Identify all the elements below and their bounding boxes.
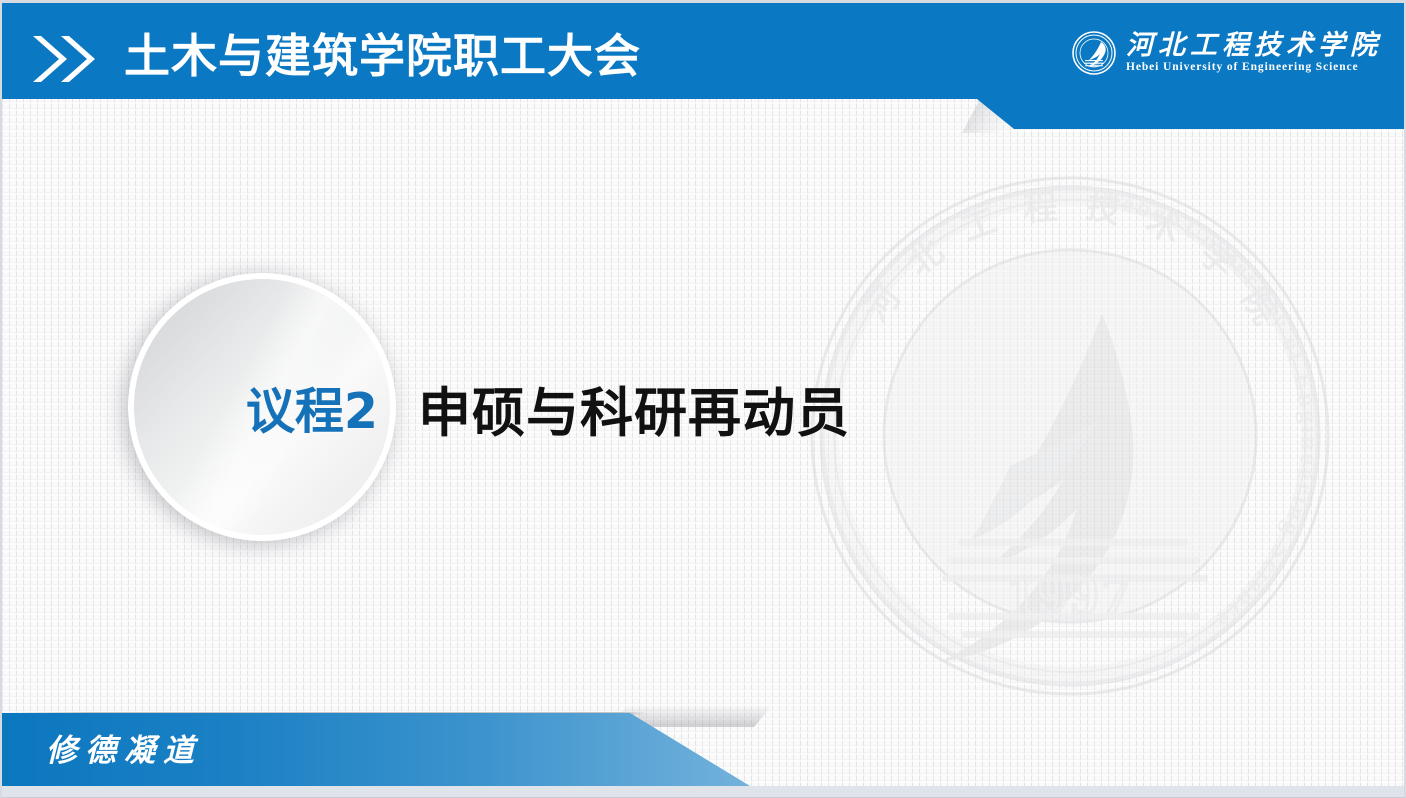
agenda-badge: 议程2 <box>122 268 404 550</box>
school-logo: 1997 河北工程技术学院 Hebei University of Engine… <box>1072 29 1382 77</box>
svg-text:1997: 1997 <box>1089 64 1100 69</box>
school-name-en: Hebei University of Engineering Science <box>1126 62 1382 74</box>
school-name-cn: 河北工程技术学院 <box>1126 32 1382 59</box>
university-seal-icon: 1997 <box>1072 31 1116 75</box>
slide-main-title: 申硕与科研再动员 <box>418 371 850 447</box>
agenda-badge-circle: 议程2 <box>128 273 396 541</box>
footer-motto: 修德凝道 <box>46 725 202 770</box>
slide-canvas: Hebei University of Engineering Science … <box>0 0 1406 798</box>
agenda-badge-face: 议程2 <box>134 279 390 535</box>
footer-bottom-strip <box>2 786 1404 797</box>
agenda-badge-label: 议程2 <box>246 372 390 443</box>
double-chevron-right-icon <box>33 34 105 84</box>
page-title: 土木与建筑学院职工大会 <box>124 27 641 85</box>
